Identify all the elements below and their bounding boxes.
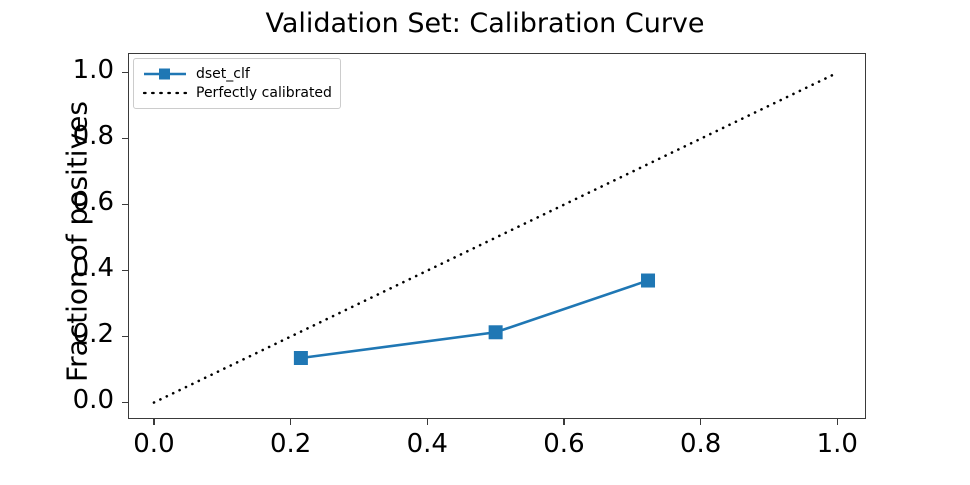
y-tick-label: 0.2 xyxy=(2,319,114,349)
y-tick-label: 0.6 xyxy=(2,187,114,217)
legend-label-reference: Perfectly calibrated xyxy=(196,85,332,101)
y-tick-mark xyxy=(122,402,128,403)
x-tick-mark xyxy=(837,419,838,425)
legend-label-series: dset_clf xyxy=(196,66,250,82)
x-tick-mark xyxy=(427,419,428,425)
y-tick-label: 1.0 xyxy=(2,55,114,85)
perfectly-calibrated-line xyxy=(154,73,837,403)
y-tick-mark xyxy=(122,138,128,139)
y-tick-label: 0.4 xyxy=(2,253,114,283)
legend-item-series: dset_clf xyxy=(142,64,332,83)
legend-swatch-solid-square-icon xyxy=(142,66,188,82)
x-tick-mark xyxy=(153,419,154,425)
data-point-marker xyxy=(294,351,308,365)
y-tick-mark xyxy=(122,270,128,271)
dset-clf-line xyxy=(301,281,648,358)
x-tick-mark xyxy=(563,419,564,425)
calibration-curve-figure: Validation Set: Calibration Curve Fracti… xyxy=(0,0,970,485)
x-tick-mark xyxy=(290,419,291,425)
y-axis-label: Fraction of positives xyxy=(61,42,94,442)
data-point-marker xyxy=(489,325,503,339)
x-tick-label: 0.0 xyxy=(109,429,199,459)
chart-legend: dset_clf Perfectly calibrated xyxy=(133,58,341,109)
x-tick-label: 1.0 xyxy=(792,429,882,459)
x-tick-label: 0.4 xyxy=(382,429,472,459)
x-tick-label: 0.2 xyxy=(246,429,336,459)
y-tick-mark xyxy=(122,72,128,73)
legend-swatch-dotted-icon xyxy=(142,85,188,101)
y-tick-label: 0.8 xyxy=(2,121,114,151)
x-tick-label: 0.6 xyxy=(519,429,609,459)
y-tick-mark xyxy=(122,204,128,205)
y-tick-label: 0.0 xyxy=(2,385,114,415)
chart-title: Validation Set: Calibration Curve xyxy=(0,8,970,39)
y-tick-mark xyxy=(122,336,128,337)
x-tick-mark xyxy=(700,419,701,425)
legend-item-reference: Perfectly calibrated xyxy=(142,83,332,102)
x-tick-label: 0.8 xyxy=(656,429,746,459)
data-point-marker xyxy=(641,274,655,288)
